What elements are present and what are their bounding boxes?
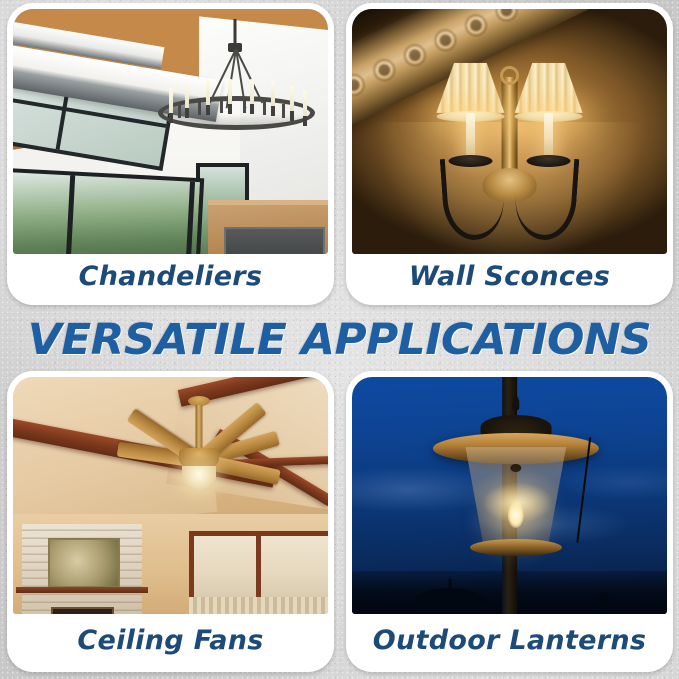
chandelier-ring [158, 96, 316, 130]
card-wall-sconces[interactable]: Wall Sconces [346, 3, 673, 305]
framed-artwork [48, 538, 120, 588]
building-spire [598, 592, 611, 614]
chandelier-candle [228, 79, 232, 105]
fan-motor-housing [179, 448, 219, 468]
lantern-fixture [428, 396, 604, 567]
chandelier-candle [303, 91, 307, 117]
fireplace-mantle [16, 587, 148, 593]
lantern-base [470, 539, 562, 556]
card-label-wall-sconces: Wall Sconces [352, 254, 667, 299]
chandelier-post [198, 101, 201, 115]
candle-bulb [544, 113, 553, 157]
fan-downrod [195, 405, 202, 451]
card-label-chandeliers: Chandeliers [13, 254, 328, 299]
ceiling-fan-fixture [133, 396, 265, 510]
sconce-fixture [437, 63, 582, 244]
chandelier-post [220, 99, 223, 113]
chandelier-candle [169, 88, 173, 114]
sconce-lamp-right [507, 63, 591, 175]
chandelier-candle [271, 81, 275, 107]
sconce-lamp-left [428, 63, 512, 175]
applications-grid: Chandeliers [0, 0, 679, 679]
lower-window [13, 168, 204, 254]
chandelier-candle [185, 83, 189, 109]
ceiling-fans-photo [13, 377, 328, 614]
chandelier-post [282, 104, 285, 118]
card-ceiling-fans[interactable]: Ceiling Fans [7, 371, 334, 672]
television [224, 227, 325, 254]
card-label-outdoor-lanterns: Outdoor Lanterns [352, 614, 667, 666]
wall-sconces-photo [352, 9, 667, 254]
card-label-ceiling-fans: Ceiling Fans [13, 614, 328, 666]
card-chandeliers[interactable]: Chandeliers [7, 3, 334, 305]
chandelier-fixture [158, 19, 316, 156]
domed-building [415, 588, 484, 614]
chandelier-post [178, 104, 181, 118]
lantern-vent-hole [510, 464, 521, 472]
lamp-shade [515, 63, 583, 113]
page-title: VERSATILE APPLICATIONS [0, 313, 679, 367]
chandelier-candle [290, 86, 294, 112]
chandelier-candle [250, 79, 254, 105]
lantern-finial [512, 396, 519, 410]
card-outdoor-lanterns[interactable]: Outdoor Lanterns [346, 371, 673, 672]
fireplace-hearth [51, 607, 114, 614]
chandelier-candle [206, 80, 210, 106]
chandelier-post [263, 101, 266, 115]
lantern-glass [461, 447, 570, 543]
bulb-cup [448, 155, 492, 167]
chandelier-stem [234, 19, 237, 46]
candle-bulb [466, 113, 475, 157]
deck-railing [189, 597, 328, 614]
outdoor-lanterns-photo [352, 377, 667, 614]
bulb-cup [527, 155, 571, 167]
lantern-bulb [508, 502, 524, 528]
fan-light-kit [182, 466, 216, 490]
chandelier-post [243, 99, 246, 113]
lamp-shade [436, 63, 504, 113]
chandeliers-photo [13, 9, 328, 254]
